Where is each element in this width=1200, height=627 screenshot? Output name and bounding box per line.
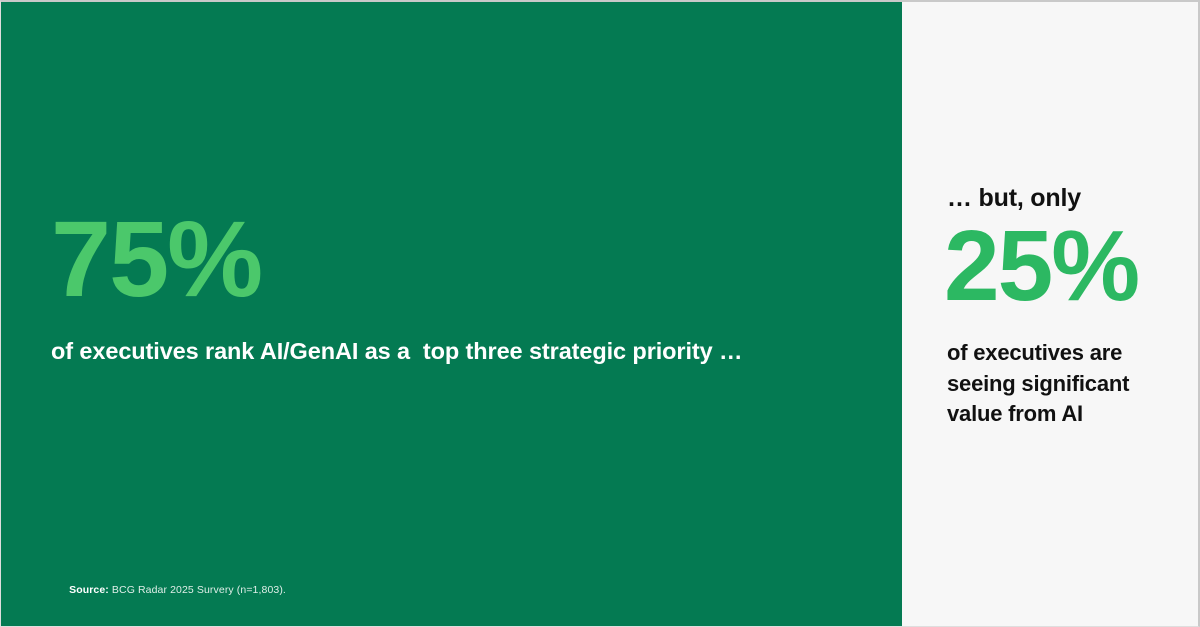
right-statistic-caption: of executives are seeing significant val… [947,338,1187,430]
right-kicker-text: … but, only [947,183,1081,213]
right-statistic-25-percent: 25% [944,216,1138,316]
source-label: Source: [69,584,109,596]
left-green-panel: 75% of executives rank AI/GenAI as a top… [1,2,902,627]
right-caption-line-1: of executives are [947,338,1187,369]
infographic-slide: 75% of executives rank AI/GenAI as a top… [0,0,1200,627]
left-statistic-caption: of executives rank AI/GenAI as a top thr… [51,337,742,366]
right-caption-line-3: value from AI [947,399,1187,430]
right-caption-line-2: seeing significant [947,369,1187,400]
source-note: Source: BCG Radar 2025 Survery (n=1,803)… [51,572,286,608]
left-statistic-75-percent: 75% [51,205,261,313]
source-value: BCG Radar 2025 Survery (n=1,803). [109,584,286,596]
right-light-panel: … but, only 25% of executives are seeing… [902,2,1200,627]
